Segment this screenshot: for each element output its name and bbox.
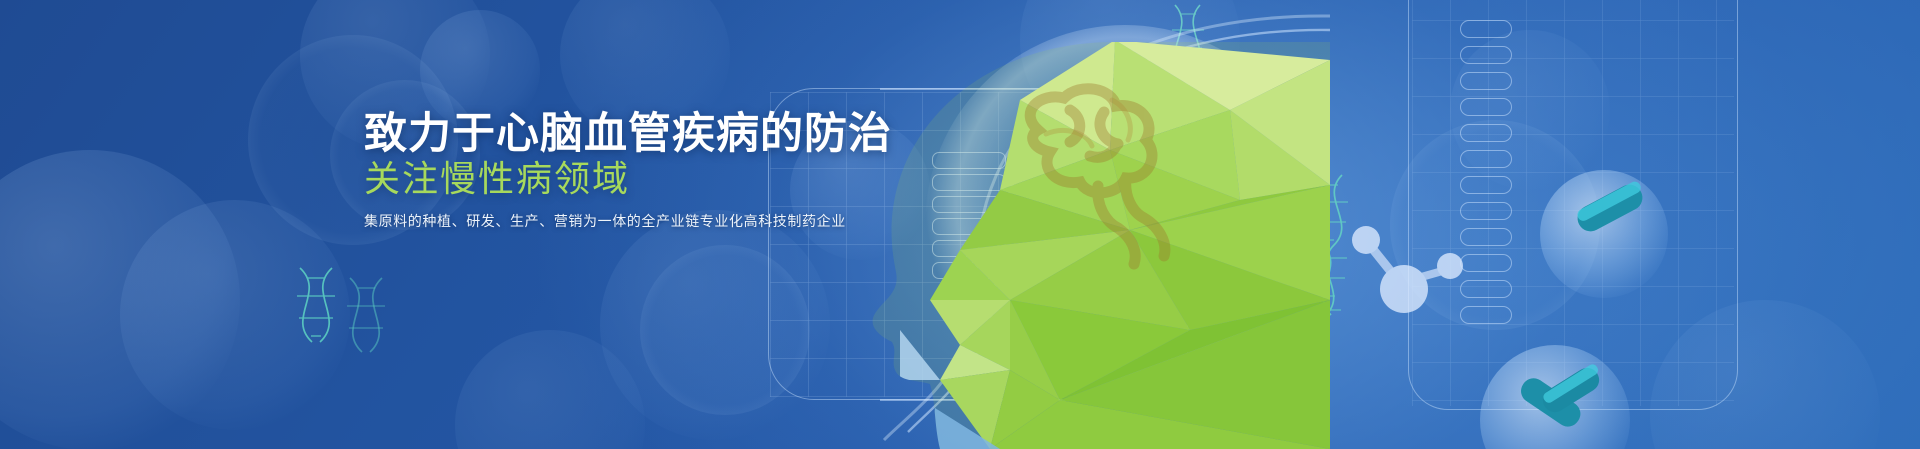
bokeh-circle: [1650, 300, 1880, 449]
hud-tab: [1460, 176, 1512, 194]
hud-tab: [1460, 72, 1512, 90]
hud-tab: [1460, 202, 1512, 220]
hud-bar: [932, 152, 1006, 169]
cell-bubble: [1540, 170, 1668, 298]
bokeh-circle: [1140, 170, 1250, 280]
hud-bar: [932, 196, 1006, 213]
hud-tab: [1460, 98, 1512, 116]
banner-subhead: 关注慢性病领域: [364, 150, 630, 202]
bokeh-circle: [1450, 30, 1610, 190]
hud-grid-lines: [1412, 0, 1734, 406]
banner-tagline: 集原料的种植、研发、生产、营销为一体的全产业链专业化高科技制药企业: [364, 211, 846, 231]
hud-bar: [932, 240, 1006, 257]
hud-bottom-line: [880, 399, 1180, 401]
hud-tab: [1460, 46, 1512, 64]
hud-tab: [1460, 280, 1512, 298]
cell-bubble: [1480, 345, 1630, 449]
hud-tab: [1460, 306, 1512, 324]
bokeh-circle: [1020, 0, 1240, 150]
hud-tab: [1460, 150, 1512, 168]
hud-tab: [1460, 124, 1512, 142]
hud-tab: [1460, 20, 1512, 38]
hud-tab: [1460, 228, 1512, 246]
hud-bar: [932, 218, 1006, 235]
banner-copy: 致力于心脑血管疾病的防治 关注慢性病领域 集原料的种植、研发、生产、营销为一体的…: [0, 0, 790, 449]
hud-bar: [932, 174, 1006, 191]
hud-bar: [932, 262, 1006, 279]
hud-top-line: [880, 88, 1180, 90]
hero-banner: 致力于心脑血管疾病的防治 关注慢性病领域 集原料的种植、研发、生产、营销为一体的…: [0, 0, 1920, 449]
hud-tab: [1460, 254, 1512, 272]
hud-frame-outline: [1408, 0, 1738, 410]
bokeh-ring: [1390, 120, 1600, 330]
